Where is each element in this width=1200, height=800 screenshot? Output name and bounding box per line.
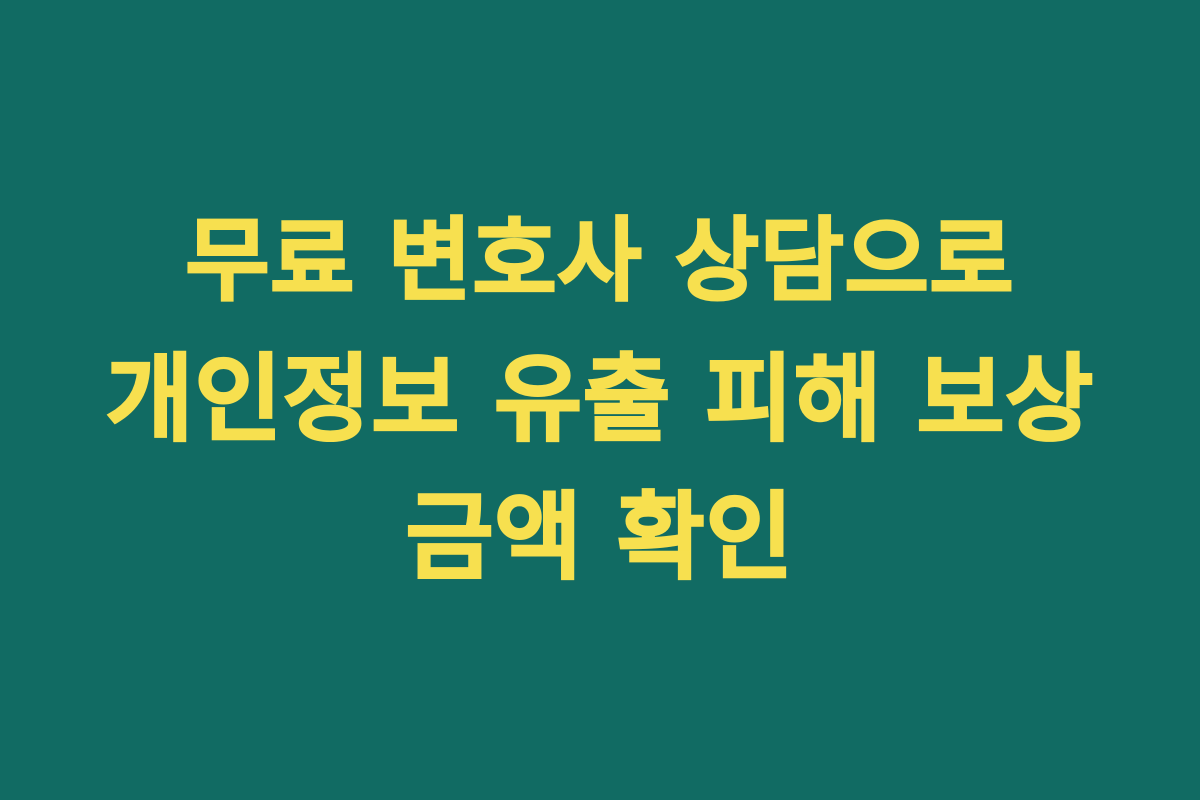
headline-line-1: 무료 변호사 상담으로 bbox=[0, 193, 1200, 331]
promo-banner: 무료 변호사 상담으로 개인정보 유출 피해 보상 금액 확인 bbox=[0, 0, 1200, 800]
headline-line-2: 개인정보 유출 피해 보상 bbox=[0, 331, 1200, 469]
headline-block: 무료 변호사 상담으로 개인정보 유출 피해 보상 금액 확인 bbox=[0, 193, 1200, 607]
headline-line-3: 금액 확인 bbox=[0, 469, 1200, 607]
